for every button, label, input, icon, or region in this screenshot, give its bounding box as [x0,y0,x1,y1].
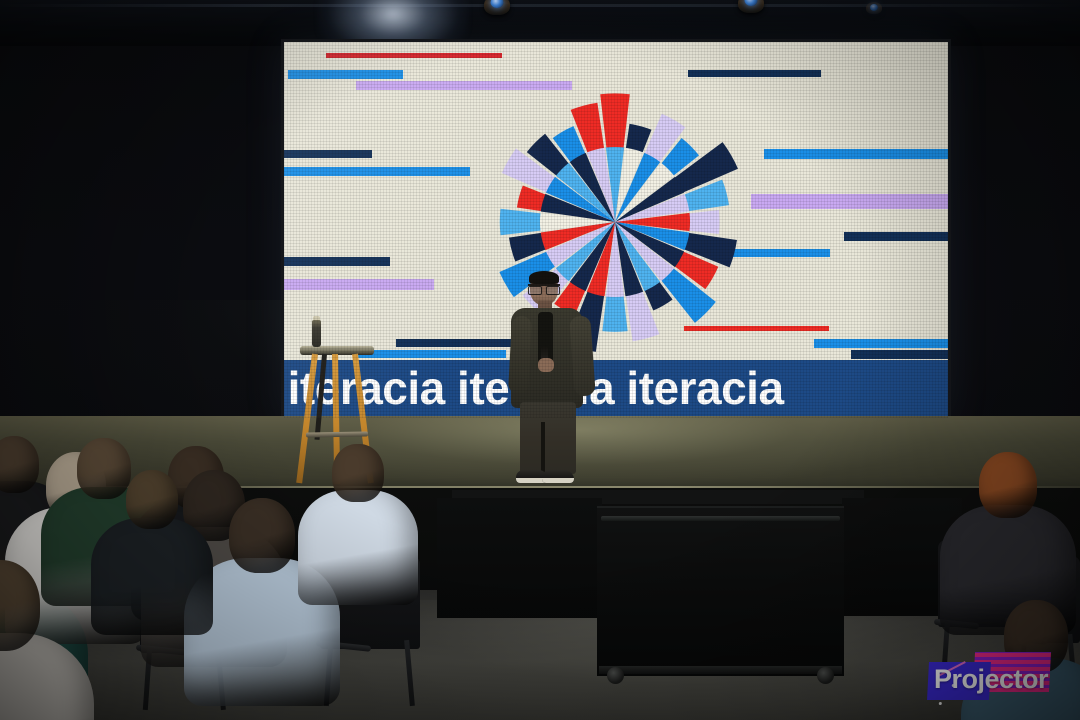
conference-stage-photo: ia iteracia iteracia iteracia [0,0,1080,720]
screen-bar [751,194,948,209]
flight-case-wheel [607,667,624,684]
screen-bar [288,70,403,79]
screen-bar [326,53,502,58]
audience-head [126,470,178,529]
screen-bar [284,279,434,290]
led-screen-frame: ia iteracia iteracia iteracia [281,39,951,421]
speaker-hair [529,271,559,284]
lighting-truss [0,4,1080,7]
glasses-icon [528,284,560,291]
led-screen: ia iteracia iteracia iteracia [284,42,948,418]
audience-torso [91,518,213,635]
watermark-label: Projector [934,664,1048,695]
stage-riser-left [437,498,602,618]
audience-head [332,444,383,502]
screen-bar [844,232,948,241]
audience-head [229,498,295,573]
screen-bar [284,257,390,266]
chair-leg [404,640,415,706]
screen-bar [764,149,948,159]
screen-bar [688,70,821,77]
spotlight-3-icon [866,2,882,14]
flight-case-bracket [599,666,842,674]
water-bottle [312,320,321,347]
speaker-trousers [520,402,576,474]
flight-case-wheel [817,667,834,684]
speaker-hand [538,358,554,372]
speaker-arm-right [569,315,596,396]
flight-case [597,506,844,676]
stool-rung [306,431,368,437]
spotlight-lens [745,0,758,6]
audience-member [298,444,418,616]
speaker-shoe [542,470,574,483]
audience-torso [298,490,418,604]
screen-bar [814,339,948,348]
spotlight-lens [491,0,504,8]
projector-watermark: Projector [928,652,1050,702]
flight-case-rail [601,516,840,521]
screen-bar [851,350,948,359]
shoe-sole [542,478,574,483]
audience-member [91,470,213,646]
speaker-presenter [508,272,594,486]
audience-member [0,560,94,720]
spotlight-1-icon [484,0,510,15]
ticker-band: ia iteracia iteracia iteracia [284,360,948,418]
speaker-arm-left [508,316,532,395]
screen-bar [284,167,470,176]
spotlight-lens [870,4,878,11]
audience-head [979,452,1037,518]
speaker-trouser-split [541,422,545,474]
screen-bar [284,150,372,158]
